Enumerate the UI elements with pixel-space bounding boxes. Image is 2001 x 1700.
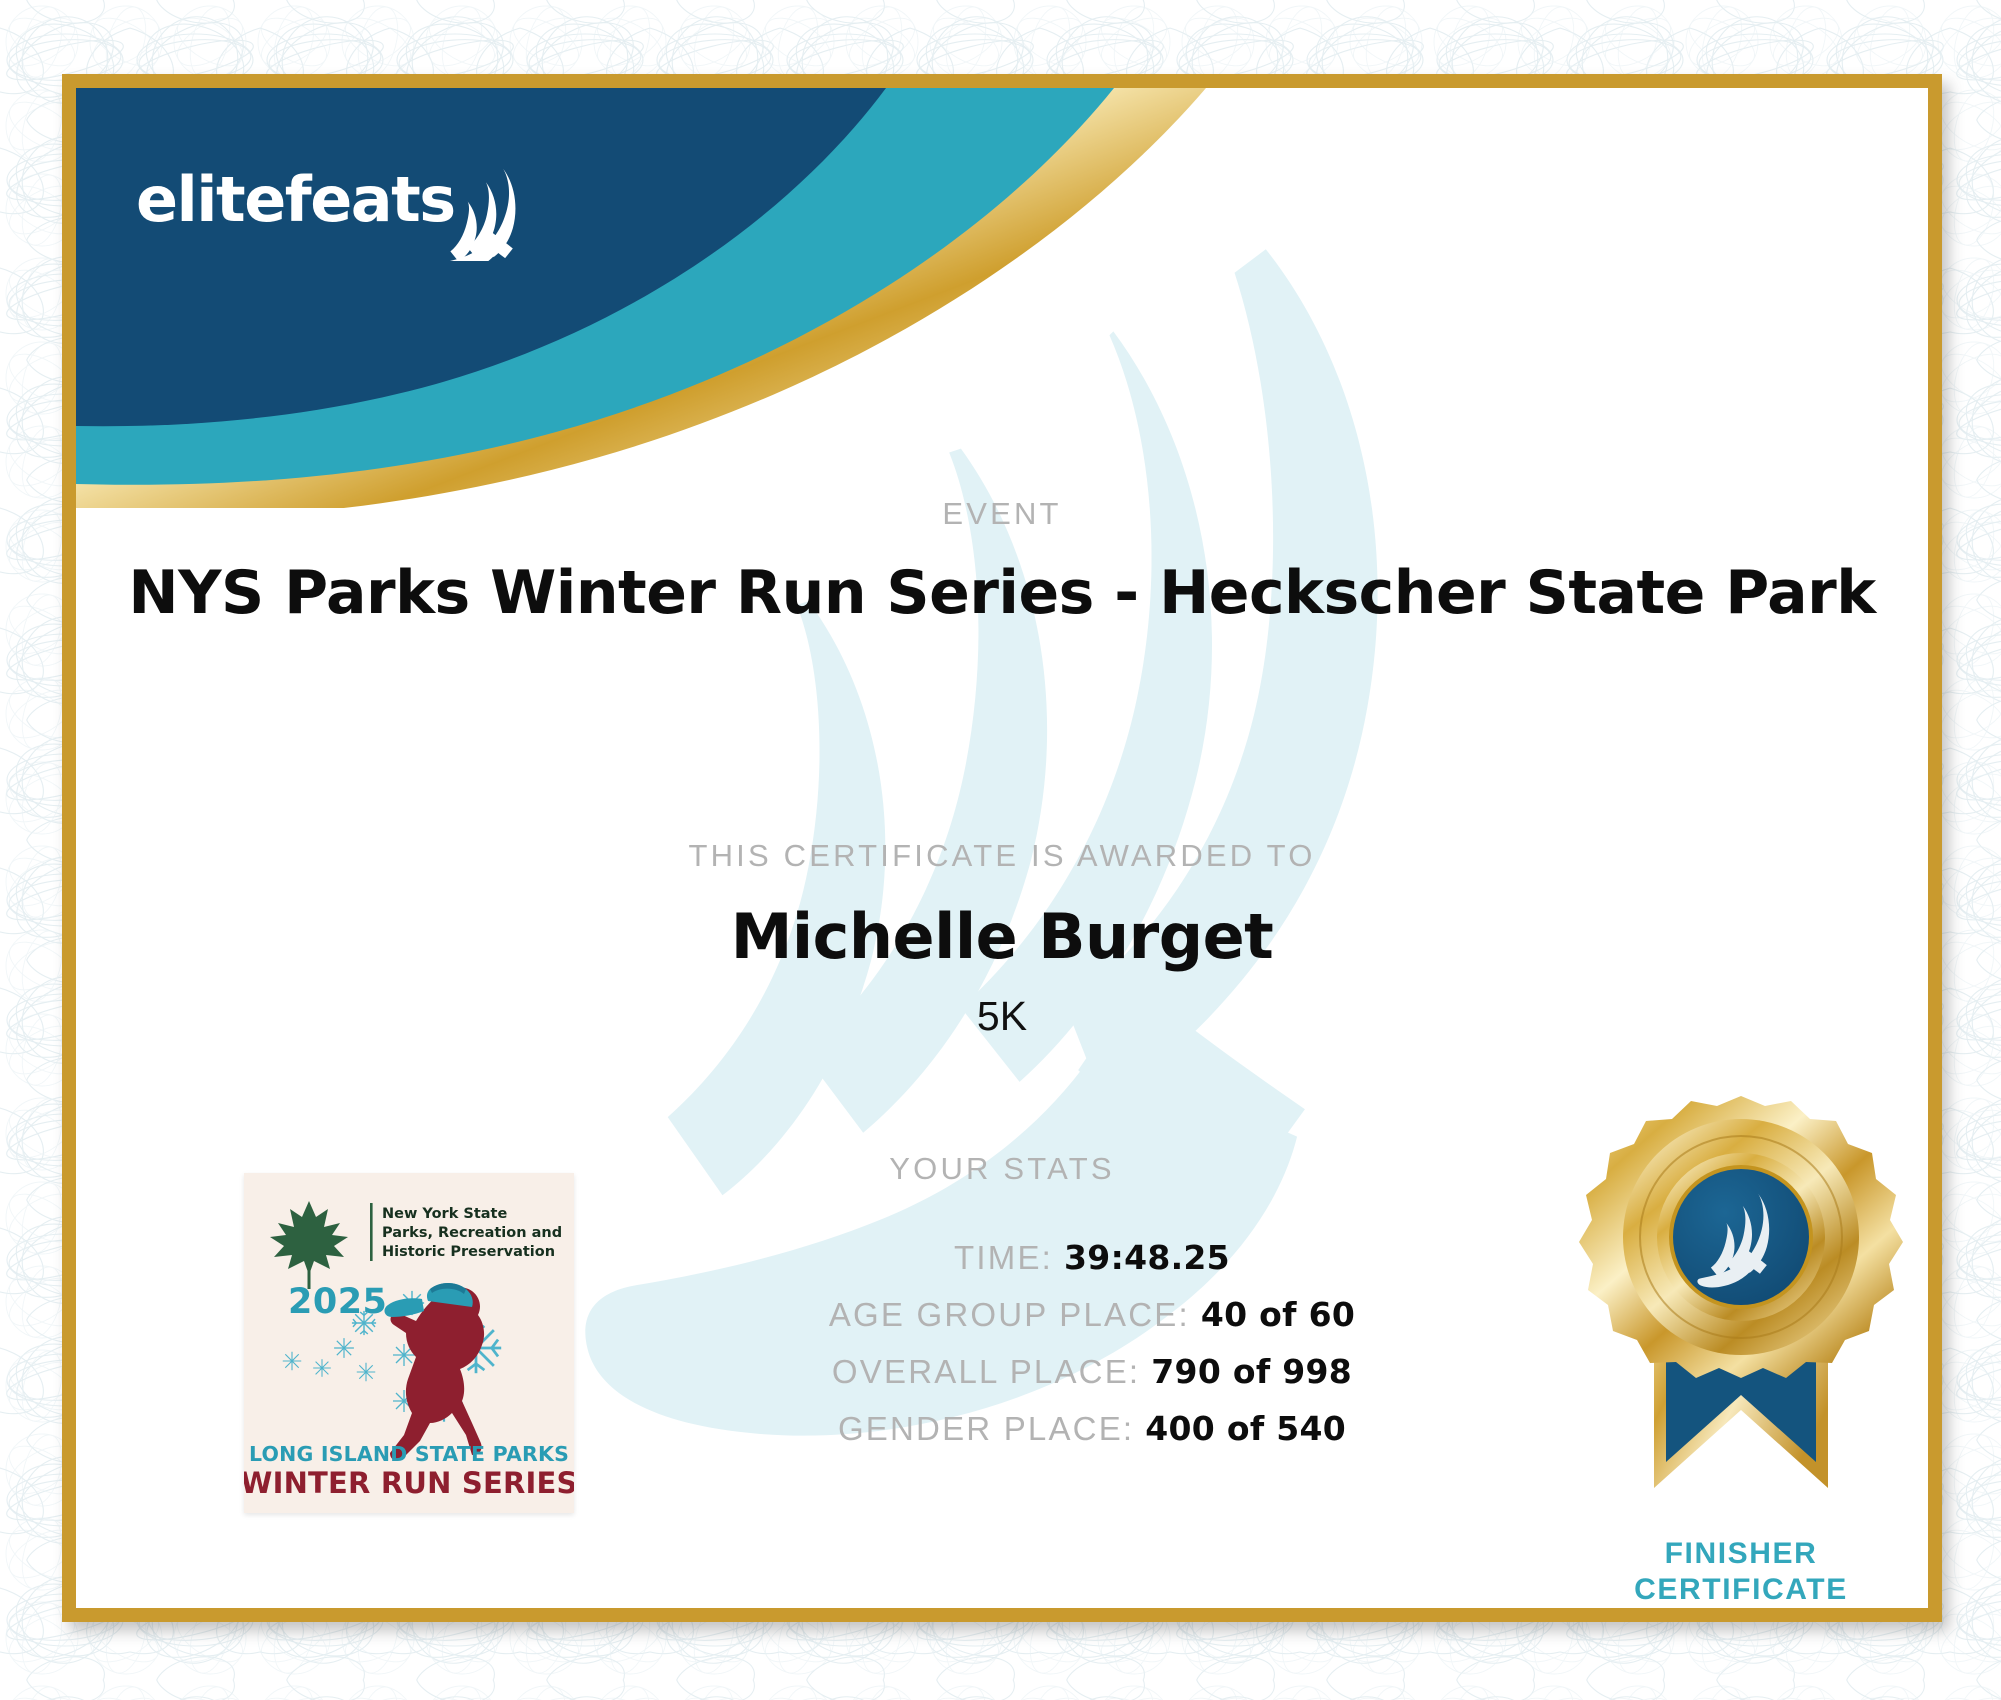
stat-value-age-group-place: 40 of 60 xyxy=(1201,1295,1355,1334)
medal-caption-line-2: CERTIFICATE xyxy=(1546,1572,1928,1608)
stat-label-age-group-place: AGE GROUP PLACE: xyxy=(829,1296,1190,1334)
series-subtitle: LONG ISLAND STATE PARKS xyxy=(249,1442,569,1466)
agency-line-2: Parks, Recreation and xyxy=(382,1225,562,1241)
race-distance: 5K xyxy=(76,993,1928,1040)
stat-label-time: TIME: xyxy=(954,1239,1053,1277)
agency-line-1: New York State xyxy=(382,1206,507,1222)
awarded-to-label: THIS CERTIFICATE IS AWARDED TO xyxy=(76,838,1928,874)
finisher-medal: 2025 xyxy=(1546,1088,1928,1558)
stat-label-gender-place: GENDER PLACE: xyxy=(838,1410,1134,1448)
header-banner-art xyxy=(76,88,1928,508)
recipient-name: Michelle Burget xyxy=(76,900,1928,973)
medal-disc xyxy=(1579,1096,1903,1378)
stat-value-overall-place: 790 of 998 xyxy=(1151,1352,1352,1391)
certificate-inner: elitefeats EVENT NYS Parks Winter Run Se… xyxy=(76,88,1928,1608)
certificate-page: elitefeats EVENT NYS Parks Winter Run Se… xyxy=(0,0,2001,1700)
event-section-label: EVENT xyxy=(76,496,1928,532)
agency-line-3: Historic Preservation xyxy=(382,1244,555,1260)
winged-foot-icon xyxy=(436,165,532,261)
stat-value-time: 39:48.25 xyxy=(1064,1238,1230,1277)
brand-logo[interactable]: elitefeats xyxy=(136,163,556,273)
series-logo-art: New York State Parks, Recreation and His… xyxy=(244,1173,574,1513)
brand-logo-text: elitefeats xyxy=(136,163,455,236)
certificate-card: elitefeats EVENT NYS Parks Winter Run Se… xyxy=(62,74,1942,1622)
series-year: 2025 xyxy=(288,1282,387,1322)
medal-caption-line-1: FINISHER xyxy=(1546,1536,1928,1572)
series-title: WINTER RUN SERIES xyxy=(244,1466,574,1500)
event-title: NYS Parks Winter Run Series - Heckscher … xyxy=(76,558,1928,628)
event-series-logo: New York State Parks, Recreation and His… xyxy=(244,1173,574,1513)
stat-value-gender-place: 400 of 540 xyxy=(1145,1409,1346,1448)
stat-label-overall-place: OVERALL PLACE: xyxy=(832,1353,1140,1391)
medal-caption: FINISHER CERTIFICATE xyxy=(1546,1536,1928,1608)
